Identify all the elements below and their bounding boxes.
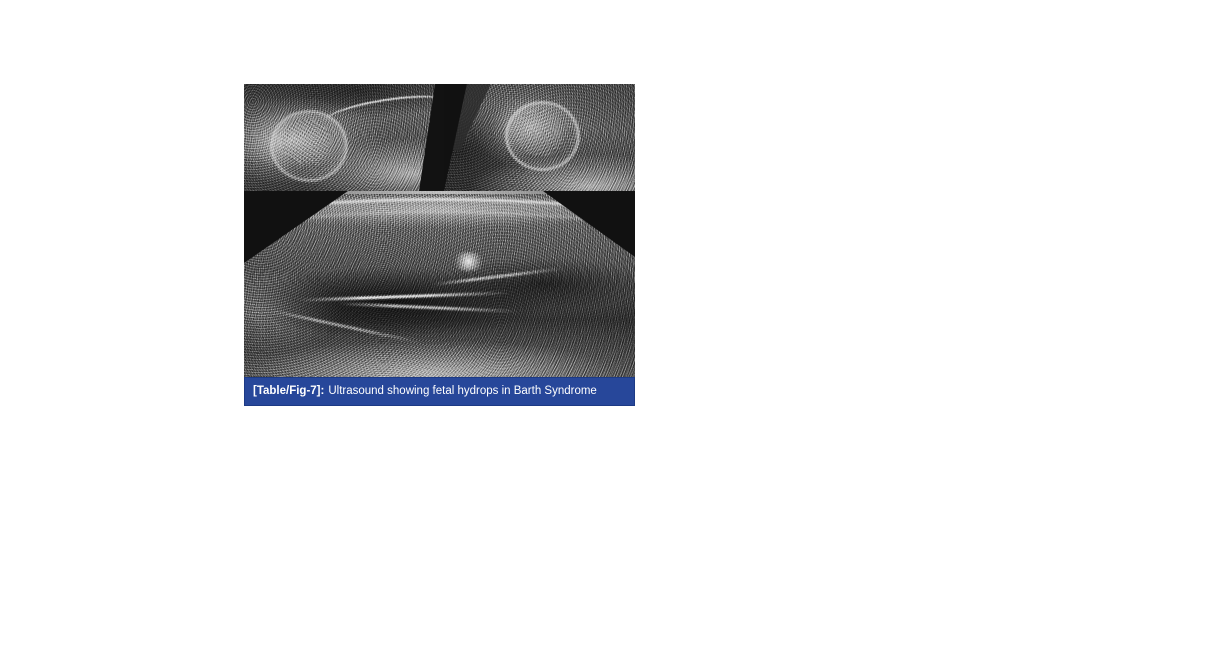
ultrasound-panel-top-right [444,84,635,191]
figure-caption-bar: [Table/Fig-7]: Ultrasound showing fetal … [244,377,635,406]
speckle-noise-fine-layer [244,84,444,191]
ultrasound-panel-top-left [244,84,444,191]
figure-block: [Table/Fig-7]: Ultrasound showing fetal … [244,84,635,406]
ultrasound-image-mosaic [244,84,635,377]
ultrasound-panel-bottom [244,191,635,377]
figure-caption-text: Ultrasound showing fetal hydrops in Bart… [328,386,596,398]
figure-caption-label: [Table/Fig-7]: [253,386,324,398]
